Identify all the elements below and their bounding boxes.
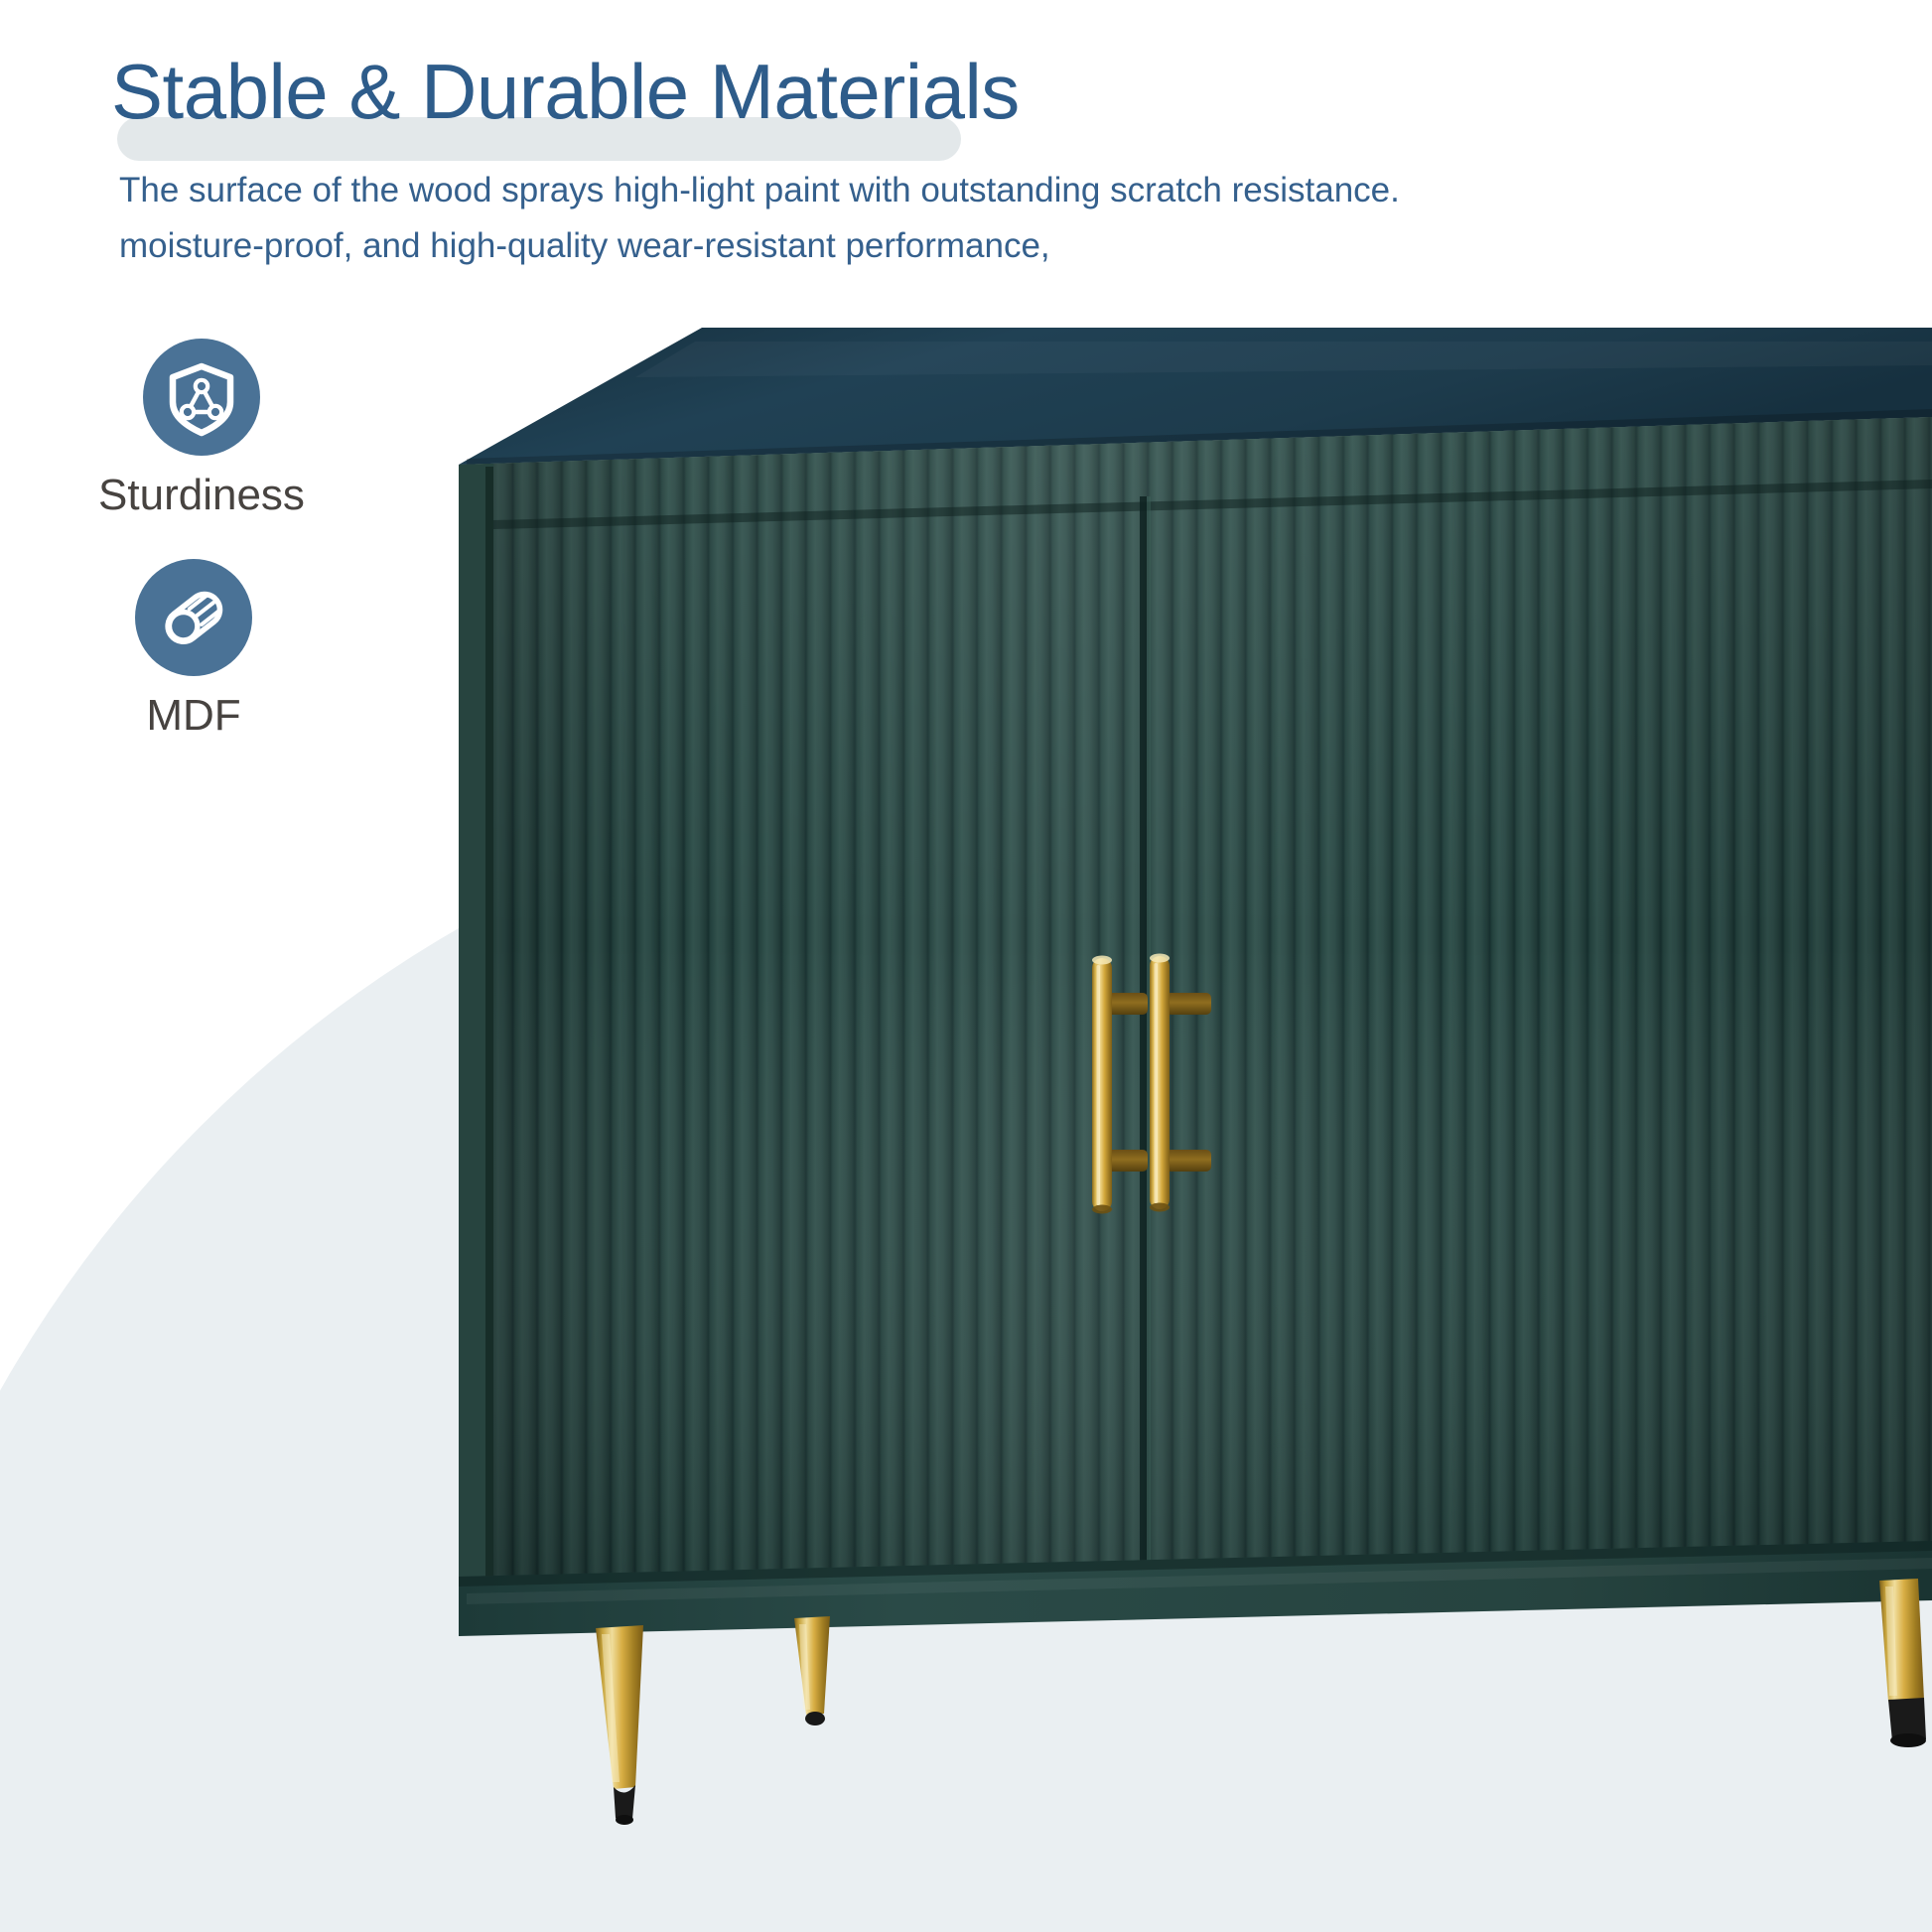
- product-feature-panel: Stable & Durable Materials The surface o…: [0, 0, 1932, 1932]
- feature-label: MDF: [45, 688, 343, 744]
- body-text-line-1: The surface of the wood sprays high-ligh…: [119, 169, 1400, 212]
- cabinet-top-rail: [459, 417, 1932, 517]
- feature-badge-mdf: MDF: [45, 559, 343, 744]
- page-title: Stable & Durable Materials: [111, 44, 1020, 139]
- door-top-shadow: [493, 480, 1932, 529]
- feature-badge-sturdiness: Sturdiness: [53, 339, 350, 523]
- cabinet-top-surface: [459, 328, 1932, 469]
- feature-label: Sturdiness: [53, 468, 350, 523]
- shield-molecule-icon: [143, 339, 260, 456]
- background-arc-decoration: [0, 764, 1932, 1932]
- headline-block: Stable & Durable Materials: [111, 44, 1020, 139]
- wood-log-icon: [135, 559, 252, 676]
- body-text-line-2: moisture-proof, and high-quality wear-re…: [119, 224, 1050, 268]
